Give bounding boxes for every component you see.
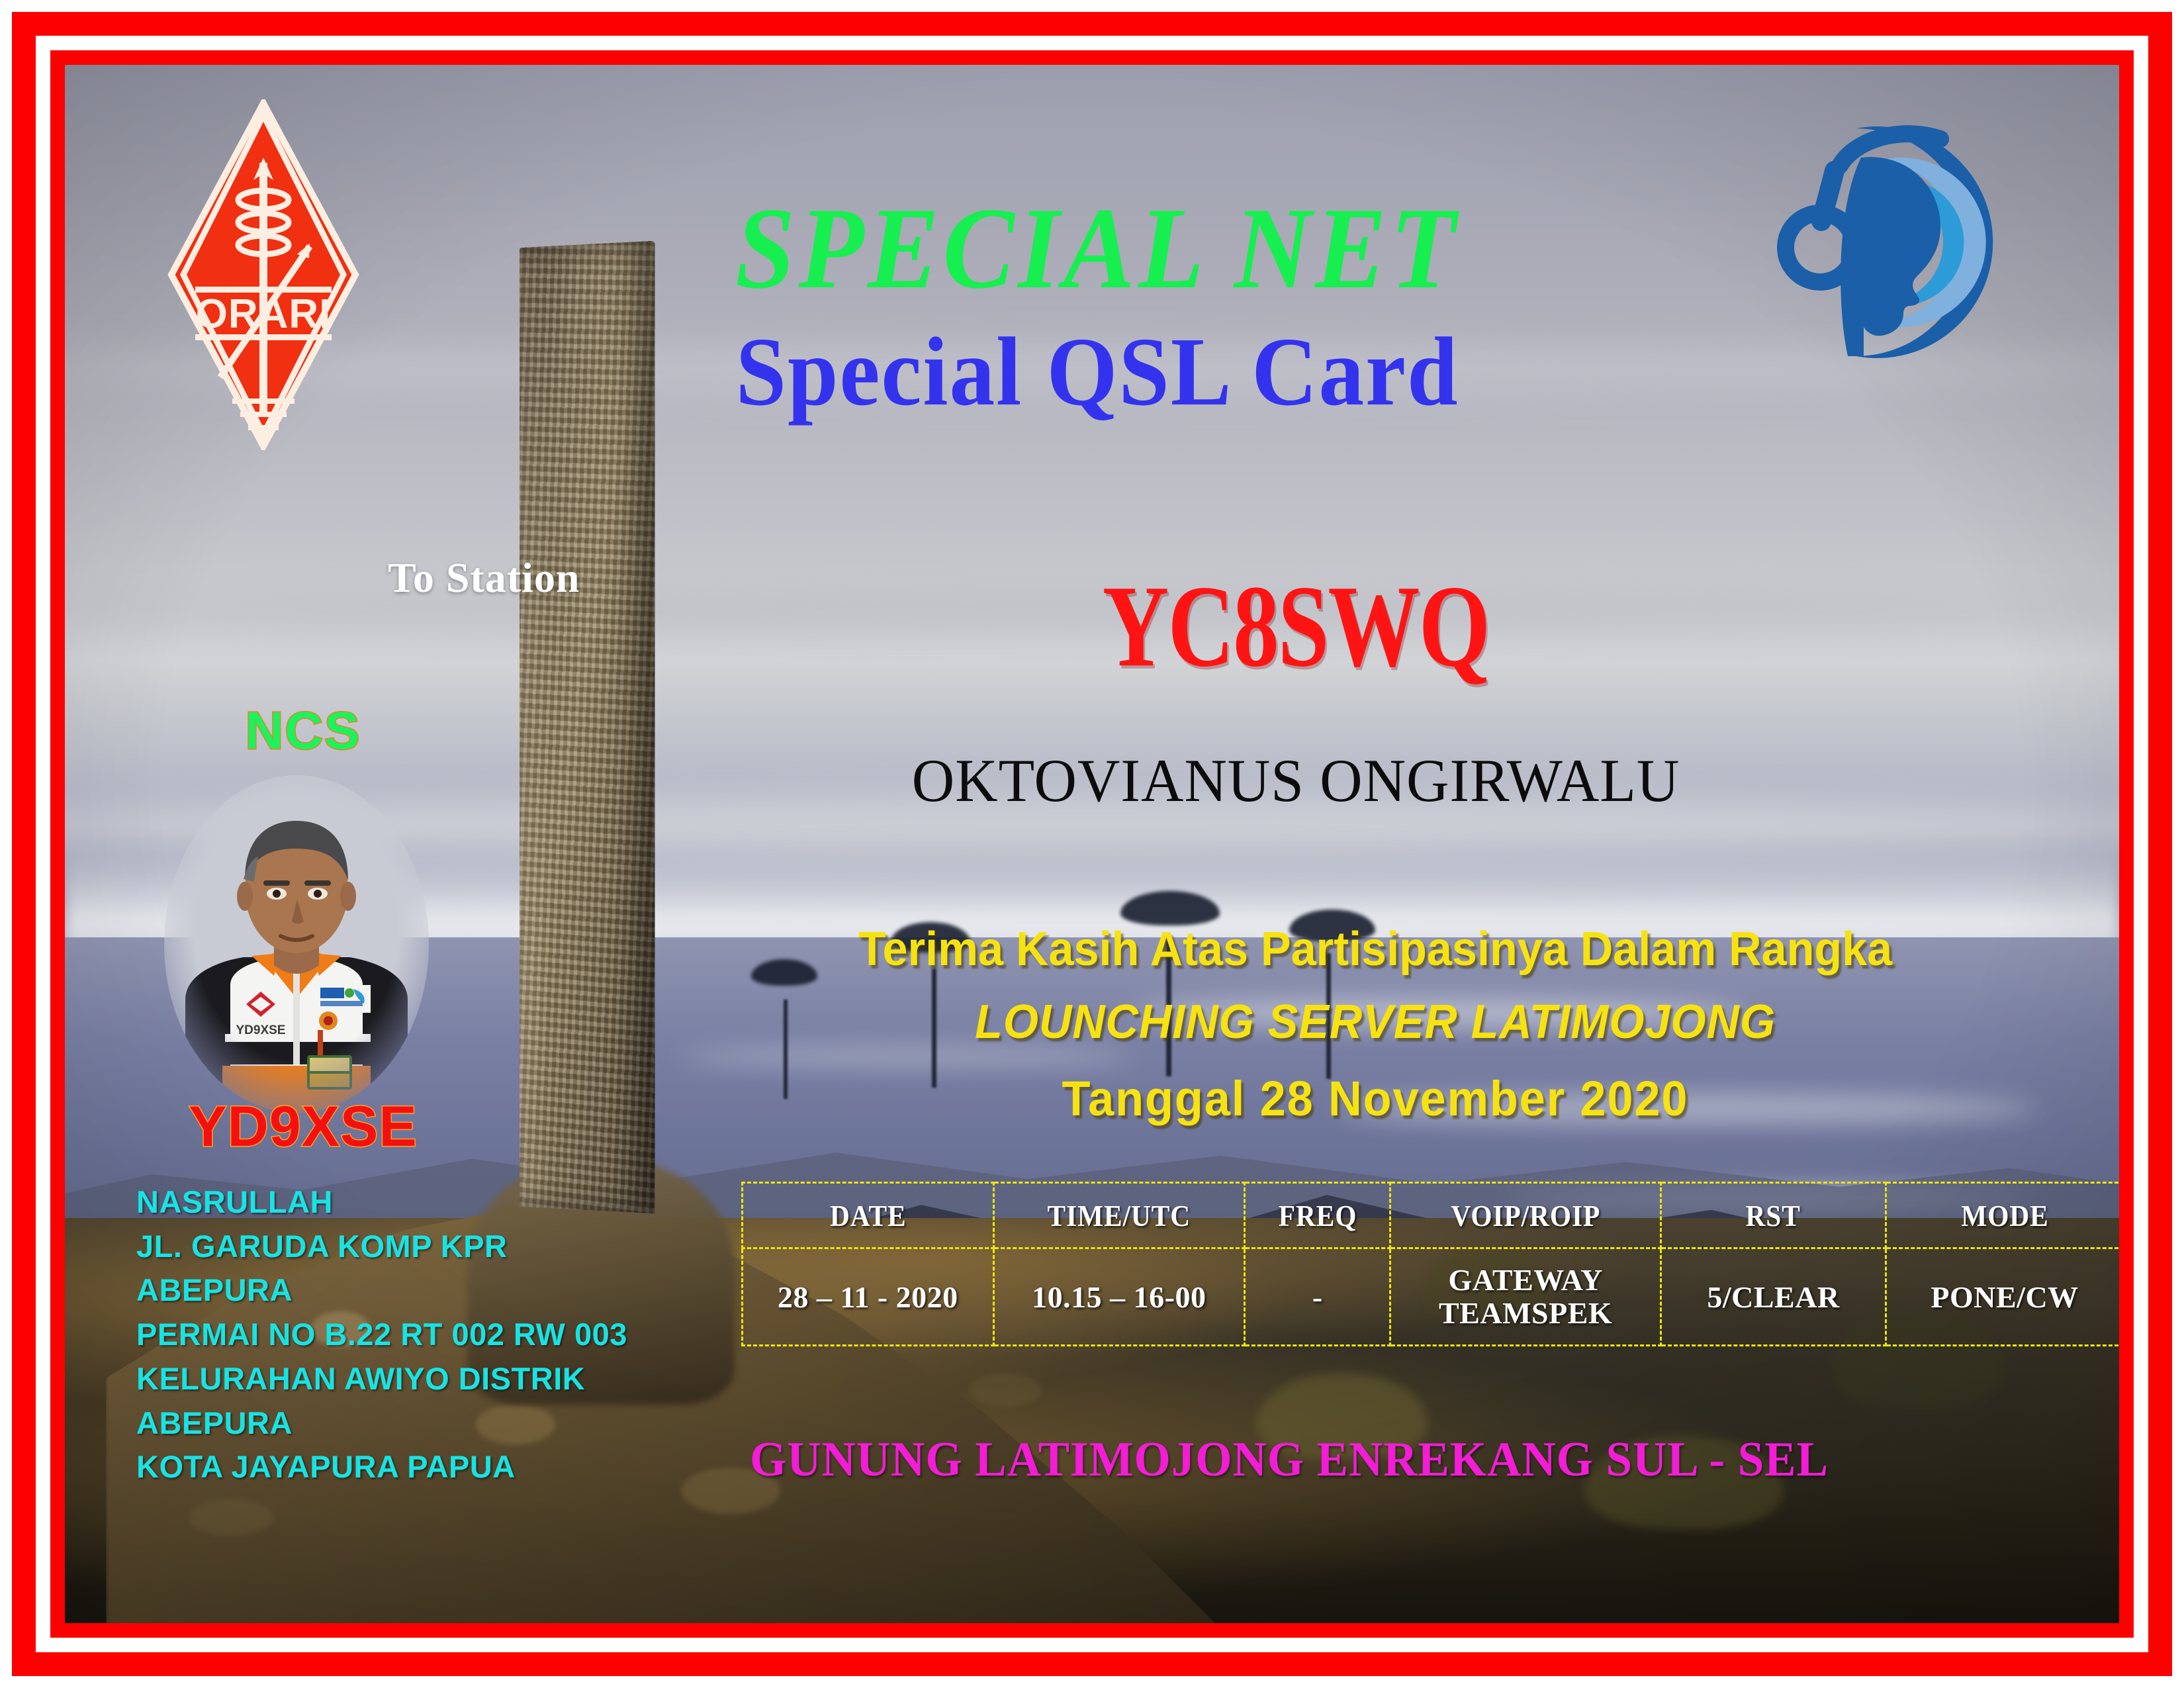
address-line: ABEPURA [136, 1268, 692, 1313]
location-line: GUNUNG LATIMOJONG ENREKANG SUL - SEL [622, 1432, 1956, 1488]
page-subtitle-qsl-card: Special QSL Card [482, 323, 1713, 421]
qso-log-table: DATE TIME/UTC FREQ VOIP/ROIP RST MODE 28… [741, 1182, 2124, 1346]
svg-text:ORARI: ORARI [196, 291, 332, 337]
cell-voip-line-1: GATEWAY [1391, 1264, 1660, 1297]
column-header-time-utc: TIME/UTC [1006, 1183, 1232, 1248]
station-callsign: YC8SWQ [842, 569, 1751, 686]
column-header-rst: RST [1672, 1183, 1874, 1248]
ncs-label: NCS [191, 700, 416, 761]
to-station-label: To Station [388, 553, 580, 602]
svg-text:YD9XSE: YD9XSE [236, 1023, 286, 1037]
operator-name: OKTOVIANUS ONGIRWALU [770, 750, 1823, 811]
address-line: NASRULLAH [136, 1180, 692, 1225]
cell-date: 28 – 11 - 2020 [743, 1248, 994, 1346]
cell-time: 10.15 – 16-00 [993, 1248, 1245, 1346]
radio-operator-headset-icon [1776, 110, 2041, 375]
cell-mode: PONE/CW [1886, 1248, 2124, 1346]
table-row: 28 – 11 - 2020 10.15 – 16-00 - GATEWAY T… [743, 1248, 2124, 1346]
address-line: PERMAI NO B.22 RT 002 RW 003 [136, 1313, 692, 1357]
cell-rst: 5/CLEAR [1661, 1248, 1886, 1346]
column-header-mode: MODE [1898, 1183, 2112, 1248]
column-header-voip-roip: VOIP/ROIP [1404, 1183, 1647, 1248]
inner-red-frame: ORARI [50, 50, 2134, 1638]
ncs-operator-photo: YD9XSE [151, 767, 442, 1124]
orari-logo: ORARI [167, 99, 359, 450]
page-title-special-net: SPECIAL NET [488, 191, 1706, 307]
cell-freq: - [1245, 1248, 1390, 1346]
qsl-card: ORARI [0, 0, 2184, 1688]
column-header-date: DATE [754, 1183, 981, 1248]
address-line: JL. GARUDA KOMP KPR [136, 1225, 692, 1269]
address-line: KOTA JAYAPURA PAPUA [136, 1445, 692, 1489]
address-line: ABEPURA [136, 1401, 692, 1446]
cell-voip-line-2: TEAMSPEK [1391, 1297, 1660, 1330]
table-header-row: DATE TIME/UTC FREQ VOIP/ROIP RST MODE [743, 1183, 2124, 1248]
event-title-line: LOUNCHING SERVER LATIMOJONG [759, 998, 1991, 1046]
ncs-callsign: YD9XSE [158, 1094, 449, 1160]
cell-voip: GATEWAY TEAMSPEK [1390, 1248, 1661, 1346]
thanks-line-1: Terima Kasih Atas Partisipasinya Dalam R… [759, 925, 1991, 973]
event-date-line: Tanggal 28 November 2020 [759, 1074, 1991, 1123]
address-line: KELURAHAN AWIYO DISTRIK [136, 1357, 692, 1401]
column-header-freq: FREQ [1252, 1183, 1383, 1248]
address-block: NASRULLAH JL. GARUDA KOMP KPR ABEPURA PE… [136, 1180, 692, 1489]
